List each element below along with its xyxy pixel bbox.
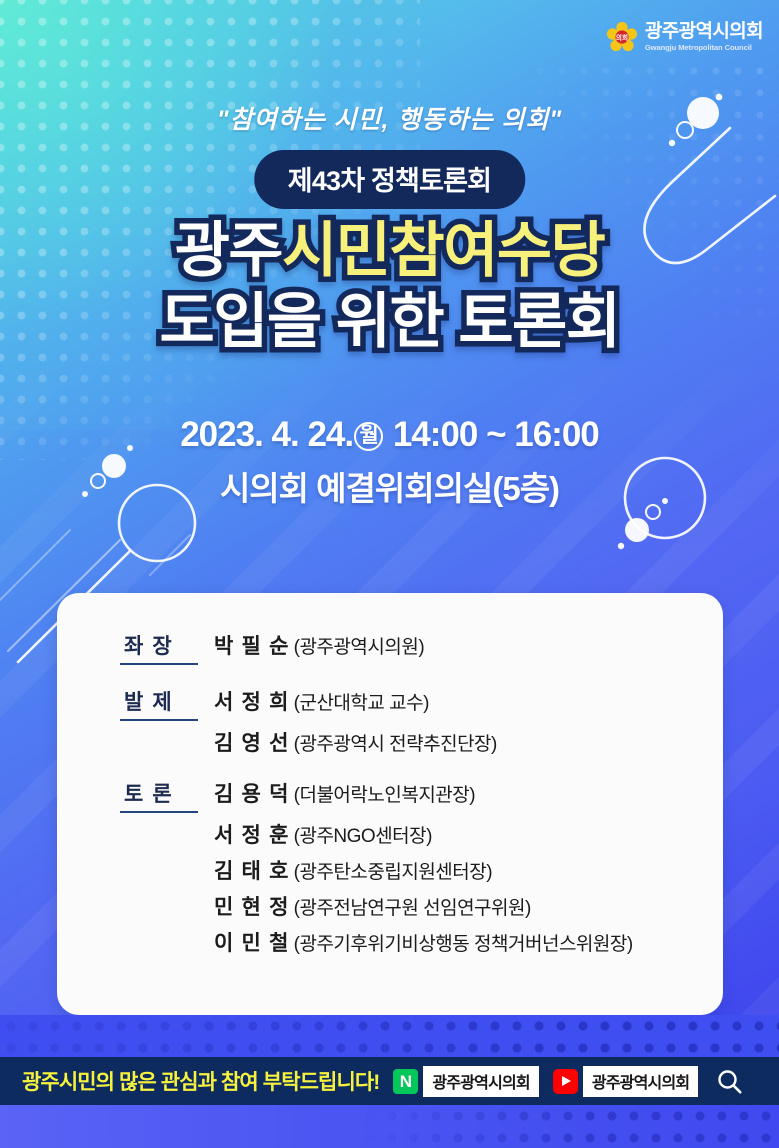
youtube-icon	[553, 1069, 578, 1094]
council-emblem-icon: 의회	[607, 22, 637, 52]
person-affiliation: (광주광역시의원)	[294, 637, 425, 658]
program-person: 서 정 희(군산대학교 교수)	[214, 686, 429, 716]
person-affiliation: (광주탄소중립지원센터장)	[294, 862, 492, 883]
program-row: 서 정 훈(광주NGO센터장)	[120, 819, 703, 849]
person-affiliation: (군산대학교 교수)	[294, 693, 429, 714]
person-name: 서 정 희	[214, 691, 290, 714]
program-row: 김 영 선(광주광역시 전략추진단장)	[120, 727, 703, 757]
program-person: 서 정 훈(광주NGO센터장)	[214, 819, 432, 849]
person-name: 서 정 훈	[214, 824, 290, 847]
program-row: 토론김 용 덕(더불어락노인복지관장)	[120, 778, 703, 813]
person-affiliation: (더불어락노인복지관장)	[294, 785, 475, 806]
footer-bar: 광주시민의 많은 관심과 참여 부탁드립니다! N 광주광역시의회 광주광역시의…	[0, 1057, 779, 1105]
council-logo: 의회 광주광역시의회 Gwangju Metropolitan Council	[607, 22, 763, 52]
program-group: 발제서 정 희(군산대학교 교수)김 영 선(광주광역시 전략추진단장)	[120, 686, 703, 757]
tagline: "참여하는 시민, 행동하는 의회"	[0, 100, 779, 136]
bottom-strip	[0, 1105, 779, 1148]
title-line-1-white: 광주	[175, 217, 282, 284]
event-time-range: 14:00 ~ 16:00	[393, 415, 599, 454]
event-venue: 시의회 예결위회의실(5층)	[0, 462, 779, 510]
program-row: 김 태 호(광주탄소중립지원센터장)	[120, 855, 703, 885]
main-title: 광주시민참여수당 도입을 위한 토론회	[0, 215, 779, 358]
bottom-strip-dots	[359, 1105, 779, 1148]
program-group: 토론김 용 덕(더불어락노인복지관장)서 정 훈(광주NGO센터장)김 태 호(…	[120, 778, 703, 957]
program-role-label-spacer	[120, 875, 198, 878]
youtube-label: 광주광역시의회	[583, 1066, 698, 1097]
dotted-band	[0, 1015, 779, 1059]
program-row: 민 현 정(광주전남연구원 선임연구위원)	[120, 891, 703, 921]
program-role-label-spacer	[120, 911, 198, 914]
session-badge: 제43차 정책토론회	[254, 150, 525, 209]
program-role-label: 좌장	[120, 630, 198, 665]
person-affiliation: (광주전남연구원 선임연구위원)	[294, 898, 531, 919]
naver-mark: N	[400, 1073, 412, 1090]
person-name: 이 민 철	[214, 932, 290, 955]
program-role-label: 토론	[120, 778, 198, 813]
dotted-band-pattern	[0, 1015, 779, 1059]
program-person: 김 용 덕(더불어락노인복지관장)	[214, 778, 475, 808]
program-row: 좌장박 필 순(광주광역시의원)	[120, 630, 703, 665]
program-role-label: 발제	[120, 686, 198, 721]
title-line-2: 도입을 위한 토론회	[0, 286, 779, 357]
logo-subtitle: Gwangju Metropolitan Council	[645, 44, 763, 52]
play-triangle-icon	[562, 1076, 571, 1086]
program-row: 발제서 정 희(군산대학교 교수)	[120, 686, 703, 721]
program-row: 이 민 철(광주기후위기비상행동 정책거버넌스위원장)	[120, 927, 703, 957]
program-role-label-spacer	[120, 947, 198, 950]
footer-message: 광주시민의 많은 관심과 참여 부탁드립니다!	[22, 1066, 379, 1096]
person-name: 김 용 덕	[214, 783, 290, 806]
program-role-label-spacer	[120, 839, 198, 842]
person-affiliation: (광주NGO센터장)	[294, 826, 432, 847]
person-name: 민 현 정	[214, 896, 290, 919]
program-group: 좌장박 필 순(광주광역시의원)	[120, 630, 703, 665]
logo-title: 광주광역시의회	[645, 22, 763, 41]
program-card: 좌장박 필 순(광주광역시의원)발제서 정 희(군산대학교 교수)김 영 선(광…	[57, 593, 723, 1015]
program-person: 김 태 호(광주탄소중립지원센터장)	[214, 855, 492, 885]
program-role-label-spacer	[120, 747, 198, 750]
person-affiliation: (광주광역시 전략추진단장)	[294, 734, 497, 755]
naver-badge[interactable]: N 광주광역시의회	[393, 1066, 538, 1097]
youtube-badge[interactable]: 광주광역시의회	[553, 1066, 698, 1097]
title-line-1: 광주시민참여수당	[0, 215, 779, 286]
program-list: 좌장박 필 순(광주광역시의원)발제서 정 희(군산대학교 교수)김 영 선(광…	[120, 630, 703, 957]
person-name: 박 필 순	[214, 635, 290, 658]
event-day-of-week: 월	[354, 422, 383, 451]
naver-label: 광주광역시의회	[423, 1066, 538, 1097]
title-line-1-yellow: 시민참여수당	[282, 217, 604, 284]
person-affiliation: (광주기후위기비상행동 정책거버넌스위원장)	[294, 934, 633, 955]
naver-icon: N	[393, 1069, 418, 1094]
event-datetime: 2023. 4. 24.월 14:00 ~ 16:00	[0, 415, 779, 455]
program-person: 민 현 정(광주전남연구원 선임연구위원)	[214, 891, 531, 921]
program-person: 김 영 선(광주광역시 전략추진단장)	[214, 727, 497, 757]
person-name: 김 태 호	[214, 860, 290, 883]
search-icon[interactable]	[716, 1068, 743, 1095]
person-name: 김 영 선	[214, 732, 290, 755]
emblem-label: 의회	[616, 33, 628, 42]
program-person: 이 민 철(광주기후위기비상행동 정책거버넌스위원장)	[214, 927, 633, 957]
event-date: 2023. 4. 24.	[180, 415, 353, 454]
poster-root: 의회 광주광역시의회 Gwangju Metropolitan Council …	[0, 0, 779, 1148]
program-person: 박 필 순(광주광역시의원)	[214, 630, 424, 660]
